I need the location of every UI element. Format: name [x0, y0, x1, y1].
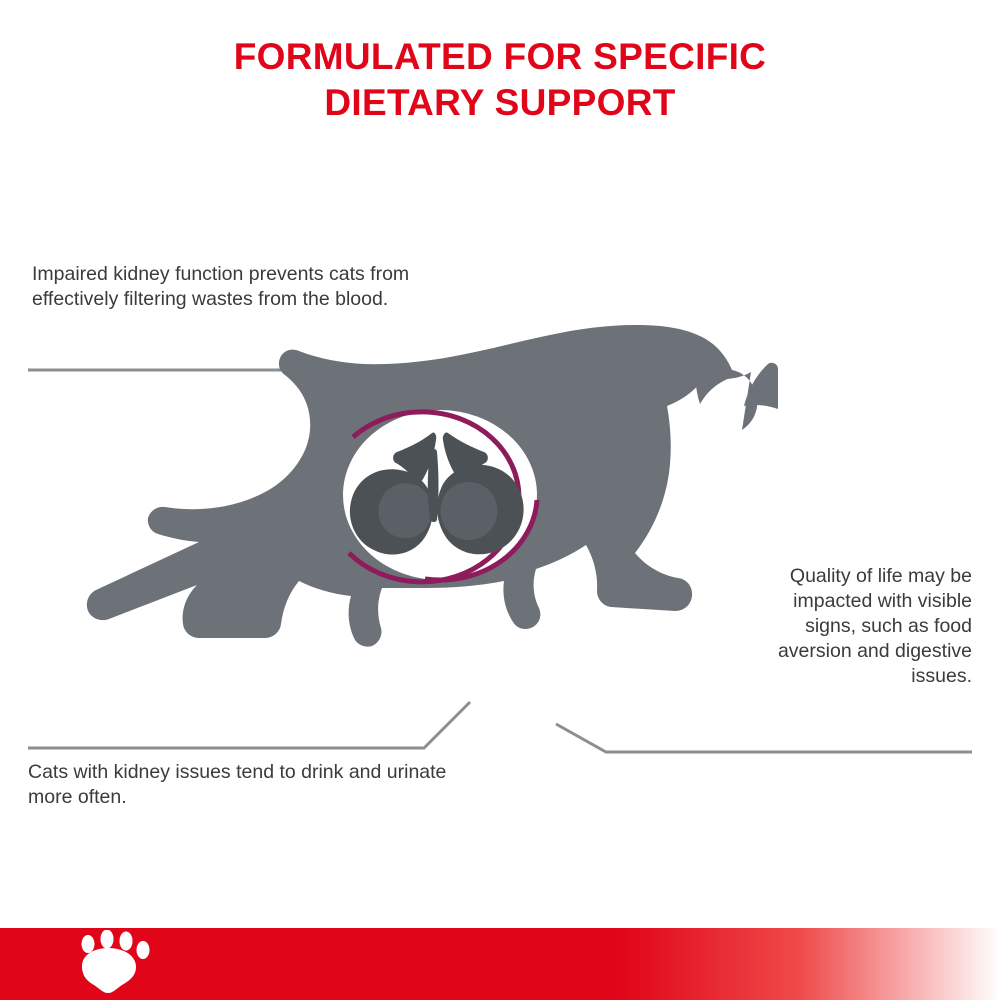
poster-canvas: FORMULATED FOR SPECIFIC DIETARY SUPPORT: [0, 0, 1000, 1000]
callout-quality-of-life: Quality of life may be impacted with vis…: [758, 564, 972, 689]
callout-drinking: Cats with kidney issues tend to drink an…: [28, 760, 488, 810]
callout-kidney-function: Impaired kidney function prevents cats f…: [32, 262, 412, 312]
royal-canin-crown-logo: [52, 930, 192, 996]
cat-illustration: [0, 0, 1000, 1000]
